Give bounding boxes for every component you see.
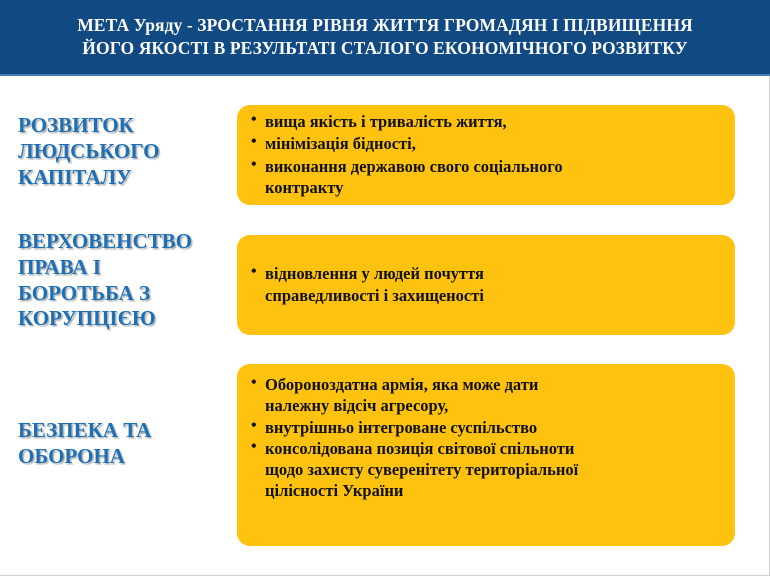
presentation-slide: МЕТА Уряду - ЗРОСТАННЯ РІВНЯ ЖИТТЯ ГРОМА… <box>0 0 770 576</box>
list-item: вища якість і тривалість життя, <box>251 111 719 132</box>
content-panel-human-capital: вища якість і тривалість життя, мініміза… <box>237 105 735 205</box>
bullet-list: Обороноздатна армія, яка може дати належ… <box>251 374 719 502</box>
list-item: Обороноздатна армія, яка може дати належ… <box>251 374 719 417</box>
content-panel-rule-of-law: відновлення у людей почуття справедливос… <box>237 235 735 335</box>
category-label-rule-of-law: ВЕРХОВЕНСТВО ПРАВА І БОРОТЬБА З КОРУПЦІЄ… <box>18 229 230 332</box>
list-item: консолідована позиція світової спільноти… <box>251 438 719 502</box>
list-item: мінімізація бідності, <box>251 133 719 154</box>
list-item: виконання державою свого соціального кон… <box>251 156 719 199</box>
content-panel-security-defence: Обороноздатна армія, яка може дати належ… <box>237 364 735 546</box>
bullet-list: вища якість і тривалість життя, мініміза… <box>251 111 719 199</box>
slide-title: МЕТА Уряду - ЗРОСТАННЯ РІВНЯ ЖИТТЯ ГРОМА… <box>63 14 707 59</box>
slide-header-banner: МЕТА Уряду - ЗРОСТАННЯ РІВНЯ ЖИТТЯ ГРОМА… <box>0 0 770 76</box>
bullet-list: відновлення у людей почуття справедливос… <box>251 263 719 307</box>
list-item: відновлення у людей почуття справедливос… <box>251 263 719 306</box>
category-label-human-capital: РОЗВИТОК ЛЮДСЬКОГО КАПІТАЛУ <box>18 113 230 190</box>
list-item: внутрішньо інтегроване суспільство <box>251 417 719 438</box>
category-label-security-defence: БЕЗПЕКА ТА ОБОРОНА <box>18 418 230 470</box>
